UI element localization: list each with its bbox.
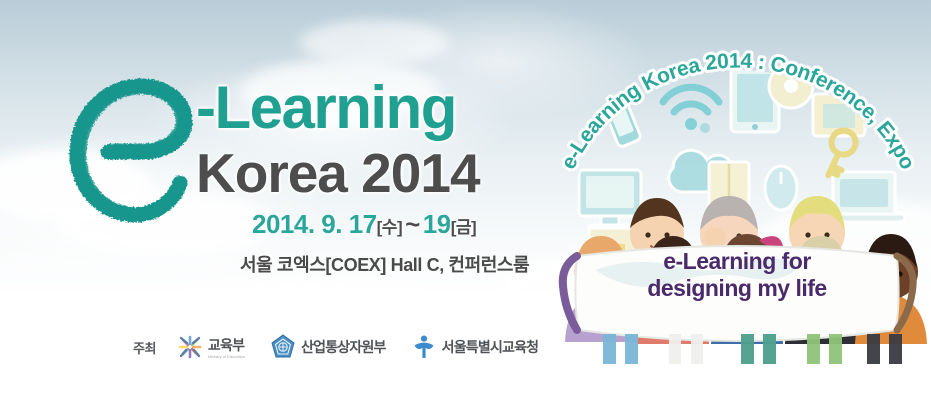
- slogan-line-1: e-Learning for: [612, 248, 862, 275]
- slogan: e-Learning for designing my life: [612, 248, 862, 302]
- event-date: 2014. 9. 17[수]~19[금]: [252, 209, 476, 240]
- sponsor-row: 주최: [133, 330, 552, 364]
- date-start-day: 17: [349, 209, 377, 239]
- sponsor-subtitle: Ministry of Education: [208, 354, 245, 359]
- wordmark: -Learning Korea 2014: [196, 78, 556, 201]
- date-year-month: 2014. 9.: [252, 209, 342, 239]
- arc-text: e-Learning Korea 2014 : Conference, Expo…: [545, 30, 931, 230]
- brush-e-logo-icon: [68, 66, 200, 226]
- date-end-day: 19: [423, 209, 451, 239]
- sponsor-moe: 교육부 Ministry of Education: [176, 333, 245, 361]
- slogan-line-2: designing my life: [612, 275, 862, 302]
- sponsor-label: 주최: [133, 338, 156, 357]
- date-range-separator: ~: [402, 209, 423, 239]
- pinwheel-icon: [176, 333, 204, 361]
- sponsor-name: 산업통상자원부: [301, 337, 386, 357]
- sponsor-motie: 산업통상자원부: [269, 333, 386, 361]
- pentagon-emblem-icon: [269, 333, 297, 361]
- brand-block: -Learning Korea 2014 2014. 9. 17[수]~19[금…: [0, 0, 575, 400]
- title-korea-2014: Korea 2014: [196, 146, 556, 201]
- date-start-weekday: [수]: [377, 218, 402, 237]
- date-end-weekday: [금]: [451, 218, 476, 237]
- sponsor-name: 서울특별시교육청: [442, 337, 539, 357]
- event-venue: 서울 코엑스[COEX] Hall C, 컨퍼런스룸: [240, 251, 529, 277]
- svg-text:e-Learning Korea 2014 : Confer: e-Learning Korea 2014 : Conference, Expo: [557, 49, 919, 172]
- person-y-icon: [410, 333, 438, 361]
- event-banner: -Learning Korea 2014 2014. 9. 17[수]~19[금…: [0, 0, 931, 400]
- title-learning: -Learning: [196, 78, 556, 138]
- sponsor-name: 교육부 Ministry of Education: [208, 335, 245, 359]
- sponsor-sen: 서울특별시교육청: [410, 333, 539, 361]
